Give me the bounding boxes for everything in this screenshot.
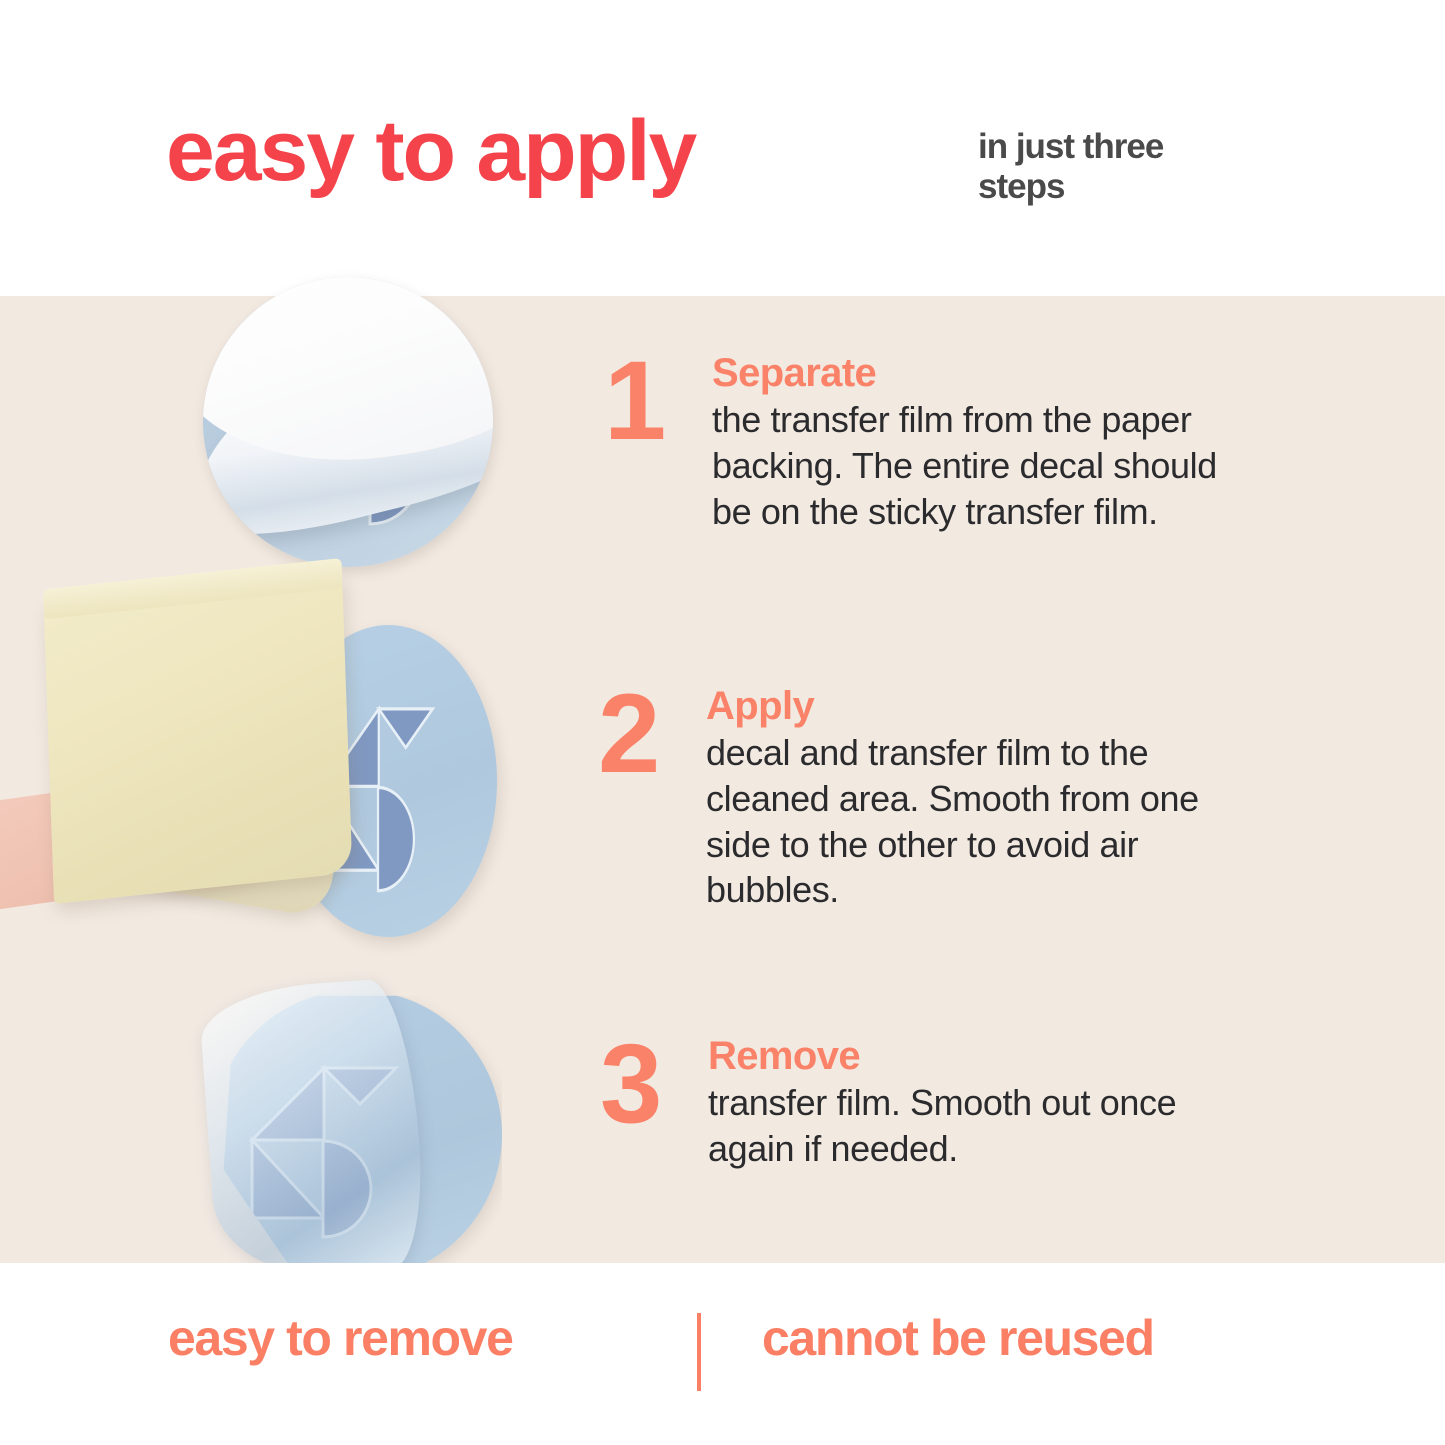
- page-title: easy to apply: [166, 108, 695, 194]
- tangram-bird-graphic: [203, 277, 493, 567]
- cleaning-cloth: [44, 572, 353, 904]
- step-1-heading: Separate: [712, 352, 1257, 395]
- step-3-body: Remove transfer film. Smooth out once ag…: [708, 1035, 1253, 1172]
- step-1-illustration: [190, 250, 510, 580]
- step-3-description: transfer film. Smooth out once again if …: [708, 1080, 1253, 1171]
- footer-label-cannot-be-reused: cannot be reused: [762, 1309, 1154, 1367]
- step-1-number: 1: [604, 352, 663, 451]
- step-2-number: 2: [598, 685, 657, 784]
- step-1-description: the transfer film from the paper backing…: [712, 397, 1257, 534]
- step-2-illustration: [0, 590, 520, 952]
- step-3-illustration: [190, 980, 530, 1292]
- infographic-page: easy to apply in just three steps: [0, 0, 1445, 1445]
- footer-label-easy-to-remove: easy to remove: [168, 1309, 513, 1367]
- transfer-film-peeling: [198, 977, 428, 1281]
- step-3-number: 3: [600, 1035, 659, 1134]
- decal-circle: [203, 277, 493, 567]
- footer-section: easy to remove cannot be reused: [0, 1263, 1445, 1445]
- page-subtitle: in just three steps: [978, 127, 1258, 207]
- step-2-heading: Apply: [706, 685, 1251, 728]
- step-3-heading: Remove: [708, 1035, 1253, 1078]
- step-2-body: Apply decal and transfer film to the cle…: [706, 685, 1251, 913]
- step-2-description: decal and transfer film to the cleaned a…: [706, 730, 1251, 913]
- footer-divider: [697, 1313, 701, 1391]
- step-1-body: Separate the transfer film from the pape…: [712, 352, 1257, 534]
